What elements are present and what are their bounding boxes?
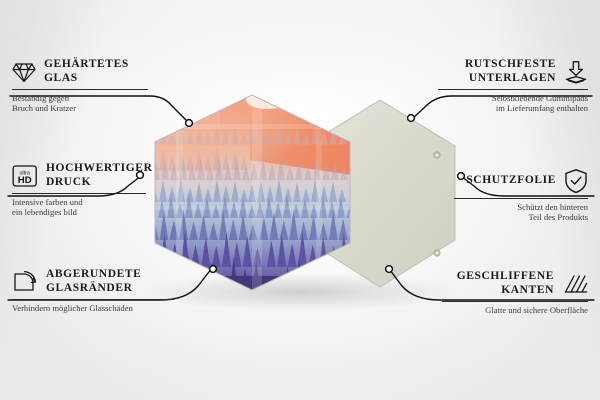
feature-title-line1: GESCHLIFFENE — [457, 270, 554, 284]
feature-subtitle-line1: Glatte und sichere Oberfläche — [442, 305, 588, 315]
diamond-icon — [12, 61, 36, 83]
infographic-canvas: GEHÄRTETES GLAS Beständig gegen Bruch un… — [0, 0, 600, 400]
feature-divider — [442, 301, 588, 302]
shield-check-icon — [564, 168, 588, 194]
leader-dot-right-3 — [386, 266, 393, 273]
leader-dot-left-1 — [186, 120, 193, 127]
feature-anti-slip-pads: RUTSCHFESTE UNTERLAGEN Selbstklebende Gu… — [438, 58, 588, 114]
feature-high-quality-print: ultra HD HOCHWERTIGER DRUCK Intensive fa… — [12, 162, 146, 218]
feature-title-line2: DRUCK — [46, 176, 152, 190]
feature-title-line2: GLAS — [44, 72, 129, 86]
rounded-corner-icon — [12, 270, 38, 294]
feature-subtitle-line1: Schützt den hinteren — [454, 202, 588, 212]
feature-divider — [12, 89, 148, 90]
polished-edges-icon — [562, 273, 588, 295]
leader-dot-left-3 — [210, 266, 217, 273]
ultra-hd-icon: ultra HD — [12, 164, 38, 188]
feature-divider — [454, 198, 588, 199]
feature-subtitle-line1: Intensive farben und — [12, 197, 146, 207]
feature-divider — [12, 193, 146, 194]
feature-title-line1: HOCHWERTIGER — [46, 162, 152, 176]
feature-title-line1: RUTSCHFESTE — [465, 58, 556, 72]
feature-title-line2: UNTERLAGEN — [465, 72, 556, 86]
feature-title-line1: ABGERUNDETE — [46, 268, 141, 282]
ultra-hd-icon-large-text: HD — [18, 175, 32, 186]
feature-title-line1: GEHÄRTETES — [44, 58, 129, 72]
feature-subtitle-line2: Teil des Produkts — [454, 212, 588, 222]
feature-subtitle-line2: ein lebendiges bild — [12, 207, 146, 217]
feature-tempered-glass: GEHÄRTETES GLAS Beständig gegen Bruch un… — [12, 58, 148, 114]
feature-subtitle-line1: Beständig gegen — [12, 93, 148, 103]
feature-title-line2: KANTEN — [457, 284, 554, 298]
feature-polished-edges: GESCHLIFFENE KANTEN Glatte und sichere O… — [442, 270, 588, 315]
feature-title-line2: GLASRÄNDER — [46, 282, 141, 296]
leader-dot-right-1 — [408, 115, 415, 122]
feature-protective-film: SCHUTZFOLIE Schützt den hinteren Teil de… — [454, 168, 588, 223]
feature-title-line1: SCHUTZFOLIE — [466, 174, 556, 188]
feature-divider — [12, 299, 174, 300]
feature-subtitle-line2: Bruch und Kratzer — [12, 103, 148, 113]
feature-subtitle-line1: Verhindern möglicher Glasschäden — [12, 303, 174, 313]
feature-subtitle-line2: im Lieferumfang enthalten — [438, 103, 588, 113]
anti-slip-pad-icon — [564, 60, 588, 84]
feature-divider — [438, 89, 588, 90]
feature-rounded-glass-edges: ABGERUNDETE GLASRÄNDER Verhindern möglic… — [12, 268, 174, 313]
feature-subtitle-line1: Selbstklebende Gummipads — [438, 93, 588, 103]
